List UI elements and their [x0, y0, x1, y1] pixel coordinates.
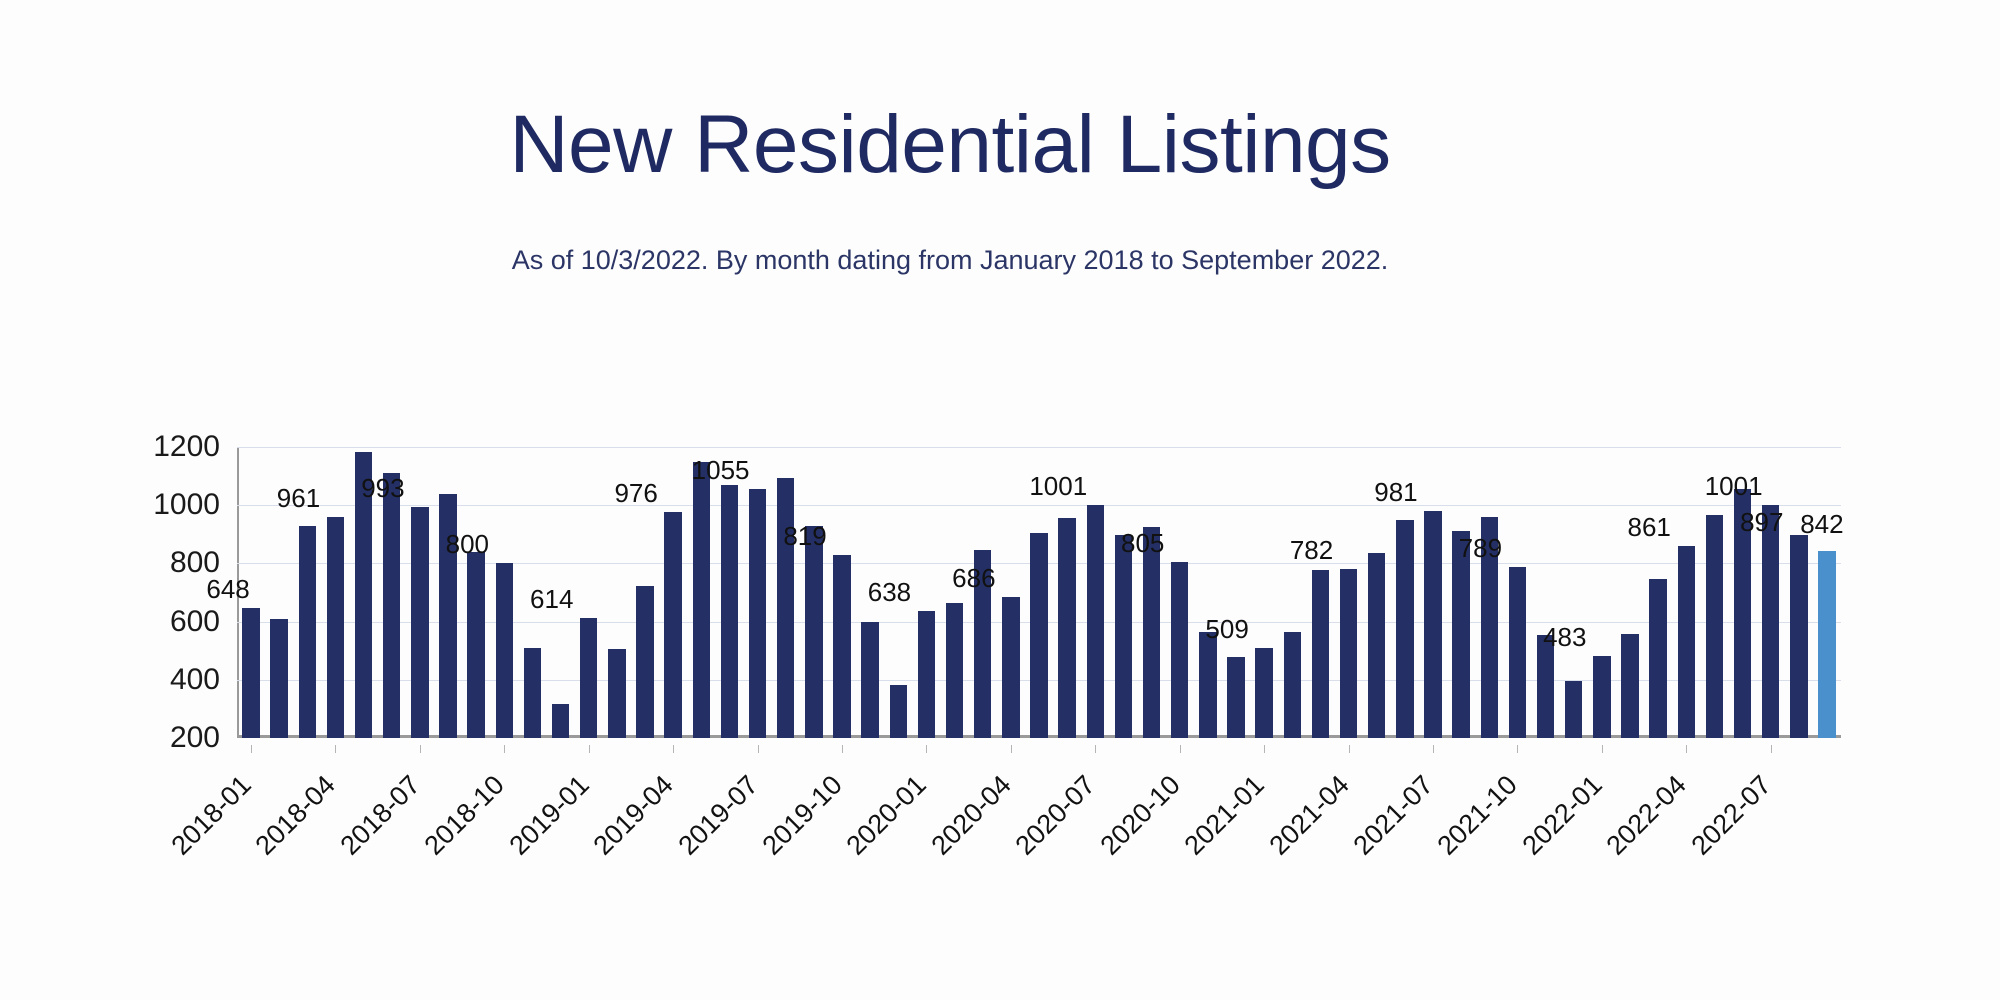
x-axis-tick-label: 2019-10 [758, 771, 847, 860]
y-axis-tick-label: 800 [100, 548, 220, 578]
bar[interactable] [1396, 520, 1413, 738]
chart-subtitle: As of 10/3/2022. By month dating from Ja… [0, 245, 1900, 275]
x-axis-tick [589, 745, 590, 753]
bar[interactable] [1058, 518, 1075, 738]
bar[interactable] [1255, 648, 1272, 738]
bar-value-label: 1055 [686, 457, 756, 483]
bar[interactable] [1565, 681, 1582, 738]
bar-value-label: 993 [348, 475, 418, 501]
bar[interactable] [721, 485, 738, 738]
bar-value-label: 861 [1614, 514, 1684, 540]
x-axis-tick [1349, 745, 1350, 753]
bar[interactable] [1706, 515, 1723, 738]
bar[interactable] [1340, 569, 1357, 738]
bar[interactable] [242, 608, 259, 738]
x-axis-tick-label: 2021-01 [1180, 771, 1269, 860]
x-axis-tick [673, 745, 674, 753]
bar-value-label: 1001 [1023, 473, 1093, 499]
bar[interactable] [890, 685, 907, 738]
x-axis-tick-label: 2021-07 [1349, 771, 1438, 860]
x-axis-tick [1771, 745, 1772, 753]
x-axis-tick [758, 745, 759, 753]
bar[interactable] [833, 555, 850, 738]
x-axis-tick [1517, 745, 1518, 753]
bar-value-label: 842 [1787, 511, 1857, 537]
y-axis-tick-label: 400 [100, 665, 220, 695]
x-axis-tick-label: 2019-04 [589, 771, 678, 860]
bar-value-label: 782 [1277, 537, 1347, 563]
bar-value-label: 483 [1530, 624, 1600, 650]
bar-value-label: 819 [770, 523, 840, 549]
bar[interactable] [1762, 505, 1779, 738]
bar[interactable] [1312, 570, 1329, 738]
x-axis-tick-label: 2020-04 [927, 771, 1016, 860]
bar[interactable] [1171, 562, 1188, 738]
bar[interactable] [1030, 533, 1047, 738]
x-axis-labels: 2018-012018-042018-072018-102019-012019-… [237, 745, 1841, 875]
x-axis-tick [1602, 745, 1603, 753]
x-axis-tick [420, 745, 421, 753]
x-axis-tick [1180, 745, 1181, 753]
bar[interactable] [1649, 579, 1666, 738]
bar[interactable] [1115, 535, 1132, 738]
bar[interactable] [299, 526, 316, 738]
bar[interactable] [552, 704, 569, 738]
bar[interactable] [1593, 656, 1610, 738]
bar-value-label: 648 [193, 576, 263, 602]
bar[interactable] [1087, 505, 1104, 738]
bar-value-label: 1001 [1699, 473, 1769, 499]
bar-value-label: 805 [1108, 530, 1178, 556]
bar-value-label: 961 [263, 485, 333, 511]
bar-value-label: 976 [601, 480, 671, 506]
x-axis-tick [251, 745, 252, 753]
page-title: New Residential Listings [0, 104, 1900, 186]
x-axis-tick [1686, 745, 1687, 753]
bar[interactable] [1143, 527, 1160, 738]
y-axis-tick-label: 1200 [100, 432, 220, 462]
bar[interactable] [524, 648, 541, 739]
x-axis-tick-label: 2022-04 [1602, 771, 1691, 860]
x-axis-tick-label: 2020-01 [842, 771, 931, 860]
x-axis-tick-label: 2021-10 [1433, 771, 1522, 860]
bar[interactable] [1509, 567, 1526, 738]
x-axis-tick-label: 2022-01 [1518, 771, 1607, 860]
bar[interactable] [749, 489, 766, 738]
bar[interactable] [383, 473, 400, 738]
x-axis-tick [335, 745, 336, 753]
bar[interactable] [1002, 597, 1019, 738]
bar[interactable] [777, 478, 794, 738]
chart-plot: 6489619938006149761055819638686100180550… [237, 447, 1841, 738]
x-axis-tick-label: 2019-01 [505, 771, 594, 860]
bar[interactable] [1790, 535, 1807, 738]
bar-value-label: 614 [517, 586, 587, 612]
bar[interactable] [411, 507, 428, 738]
bar[interactable] [467, 552, 484, 738]
bar[interactable] [1678, 546, 1695, 738]
x-axis-tick-label: 2021-04 [1265, 771, 1354, 860]
bar-value-label: 686 [939, 565, 1009, 591]
bar[interactable] [1284, 632, 1301, 739]
y-axis-tick-label: 600 [100, 607, 220, 637]
x-axis-tick [504, 745, 505, 753]
bar[interactable] [1621, 634, 1638, 738]
bar-value-label: 789 [1445, 535, 1515, 561]
x-axis-tick [842, 745, 843, 753]
x-axis-tick [1011, 745, 1012, 753]
x-axis-tick-label: 2018-04 [251, 771, 340, 860]
bar[interactable] [946, 603, 963, 738]
x-axis-tick [1095, 745, 1096, 753]
x-axis-tick [1433, 745, 1434, 753]
bar[interactable] [1227, 657, 1244, 738]
bar[interactable] [693, 462, 710, 738]
bar[interactable] [1368, 553, 1385, 738]
x-axis-tick [926, 745, 927, 753]
bar[interactable] [496, 563, 513, 738]
y-axis-tick-label: 200 [100, 723, 220, 753]
bar[interactable] [1199, 632, 1216, 739]
x-axis-tick-label: 2019-07 [674, 771, 763, 860]
bar[interactable] [270, 619, 287, 738]
bar-value-label: 800 [432, 531, 502, 557]
x-axis-tick-label: 2022-07 [1687, 771, 1776, 860]
bar[interactable] [636, 586, 653, 738]
bar[interactable] [664, 512, 681, 738]
bar[interactable] [918, 611, 935, 738]
x-axis-tick-label: 2018-10 [420, 771, 509, 860]
x-axis-tick-label: 2020-10 [1096, 771, 1185, 860]
x-axis-tick-label: 2018-07 [336, 771, 425, 860]
bar-value-label: 509 [1192, 616, 1262, 642]
bar[interactable] [861, 622, 878, 738]
bar[interactable] [608, 649, 625, 738]
bar[interactable] [580, 618, 597, 738]
x-axis-tick-label: 2020-07 [1011, 771, 1100, 860]
bar-value-label: 981 [1361, 479, 1431, 505]
bar-value-label: 638 [854, 579, 924, 605]
bar[interactable] [1818, 551, 1835, 738]
x-axis-tick [1264, 745, 1265, 753]
bar[interactable] [1424, 511, 1441, 738]
y-axis-tick-label: 1000 [100, 490, 220, 520]
bar[interactable] [805, 526, 822, 738]
bar[interactable] [327, 517, 344, 738]
